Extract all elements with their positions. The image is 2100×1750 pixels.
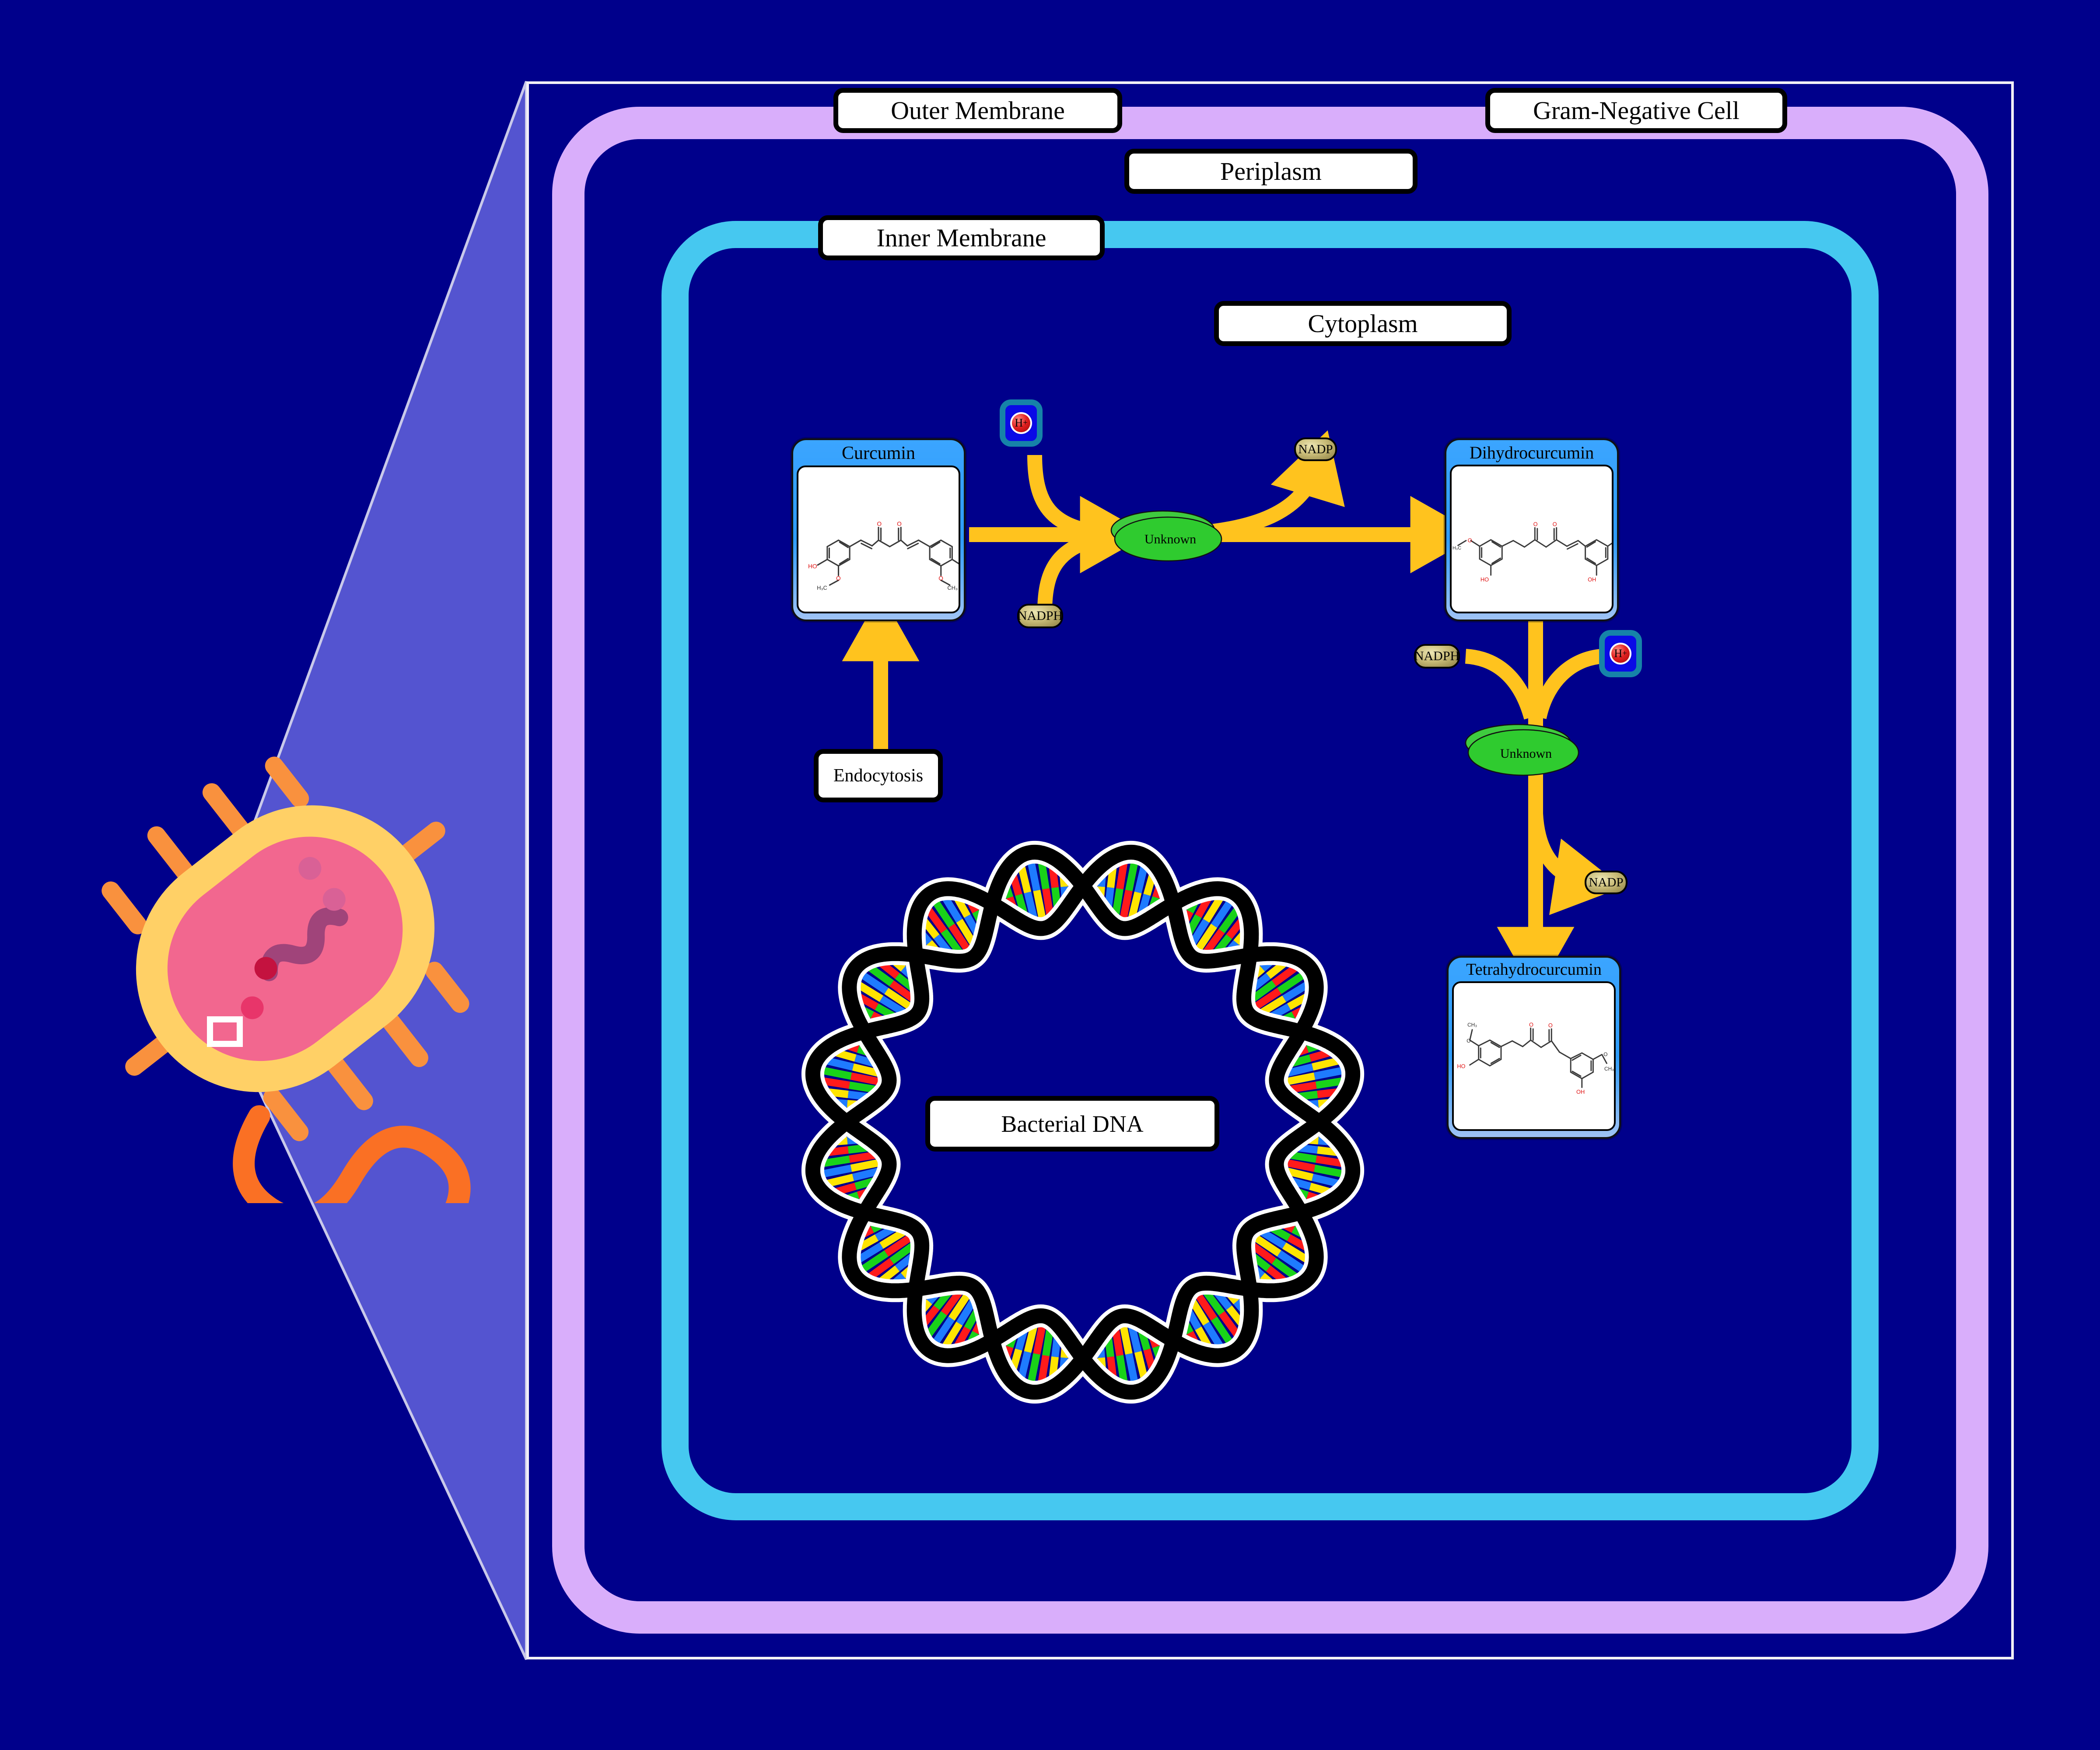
svg-text:HO: HO [808,563,817,570]
cofactor-nadp-1: NADP [1294,437,1337,461]
svg-text:O: O [1533,521,1538,528]
enzyme-unknown-1[interactable]: Unknown [1107,503,1225,569]
enzyme-label-1: Unknown [1144,532,1196,546]
svg-text:O: O [1553,521,1557,528]
molecule-title: Dihydrocurcumin [1470,444,1594,462]
label-cytoplasm: Cytoplasm [1214,301,1512,346]
proton-vesicle-2: H+ [1599,630,1642,677]
molecule-structure-curcumin: OO HOOH OO H₃CCH₃ [797,465,960,613]
molecule-structure-tetrahydrocurcumin: OO HOOH OO CH₃CH₃ [1452,981,1616,1131]
proton-label: H [1015,417,1023,429]
svg-text:O: O [897,521,902,527]
label-inner-membrane: Inner Membrane [818,215,1105,260]
label-outer-membrane: Outer Membrane [833,88,1122,133]
svg-text:O: O [1466,1038,1470,1044]
diagram-canvas: Outer Membrane Gram-Negative Cell Peripl… [0,0,2100,1750]
molecule-structure-dihydrocurcumin: OO HOOH OO H₃CCH₃ [1450,465,1613,613]
bacterium-illustration [52,696,516,1203]
svg-text:O: O [1603,1051,1607,1057]
label-gram-negative-cell: Gram-Negative Cell [1485,88,1787,133]
proton-label: H [1614,648,1622,659]
molecule-card-dihydrocurcumin[interactable]: Dihydrocurcumin [1445,438,1619,621]
proton-icon: H+ [1012,414,1030,432]
svg-text:CH₃: CH₃ [1467,1022,1477,1028]
bacterial-dna: Bacterial DNA [770,833,1396,1420]
svg-text:HO: HO [1480,576,1489,583]
label-periplasm: Periplasm [1124,149,1417,194]
label-bacterial-dna: Bacterial DNA [925,1096,1219,1151]
svg-text:HO: HO [1457,1063,1465,1069]
molecule-title: Tetrahydrocurcumin [1466,961,1602,979]
svg-text:OH: OH [1588,576,1596,583]
svg-text:H₃C: H₃C [817,584,827,591]
proton-ring: H+ [1610,643,1631,665]
enzyme-label-2: Unknown [1500,746,1552,761]
cofactor-nadph-1: NADPH [1017,604,1063,628]
cofactor-nadph-2: NADPH [1414,644,1460,668]
svg-text:OH: OH [1576,1088,1585,1095]
cofactor-nadp-2: NADP [1585,871,1627,894]
proton-ring: H+ [1010,412,1032,434]
svg-text:CH₃: CH₃ [1604,1066,1614,1072]
svg-text:H₃C: H₃C [1452,546,1461,551]
enzyme-unknown-2[interactable]: Unknown [1457,717,1588,787]
svg-text:O: O [836,575,841,581]
svg-text:O: O [1529,1021,1533,1028]
label-endocytosis: Endocytosis [814,749,943,802]
svg-text:CH₃: CH₃ [947,584,958,591]
proton-icon: H+ [1611,644,1630,663]
proton-vesicle-1: H+ [1000,399,1043,447]
molecule-card-tetrahydrocurcumin[interactable]: Tetrahydrocurcumin [1447,956,1621,1139]
svg-text:O: O [1548,1022,1553,1029]
svg-text:O: O [877,521,882,527]
molecule-title: Curcumin [842,444,915,463]
svg-text:O: O [1468,537,1472,543]
molecule-card-curcumin[interactable]: Curcumin [791,438,966,621]
svg-text:O: O [938,575,943,581]
